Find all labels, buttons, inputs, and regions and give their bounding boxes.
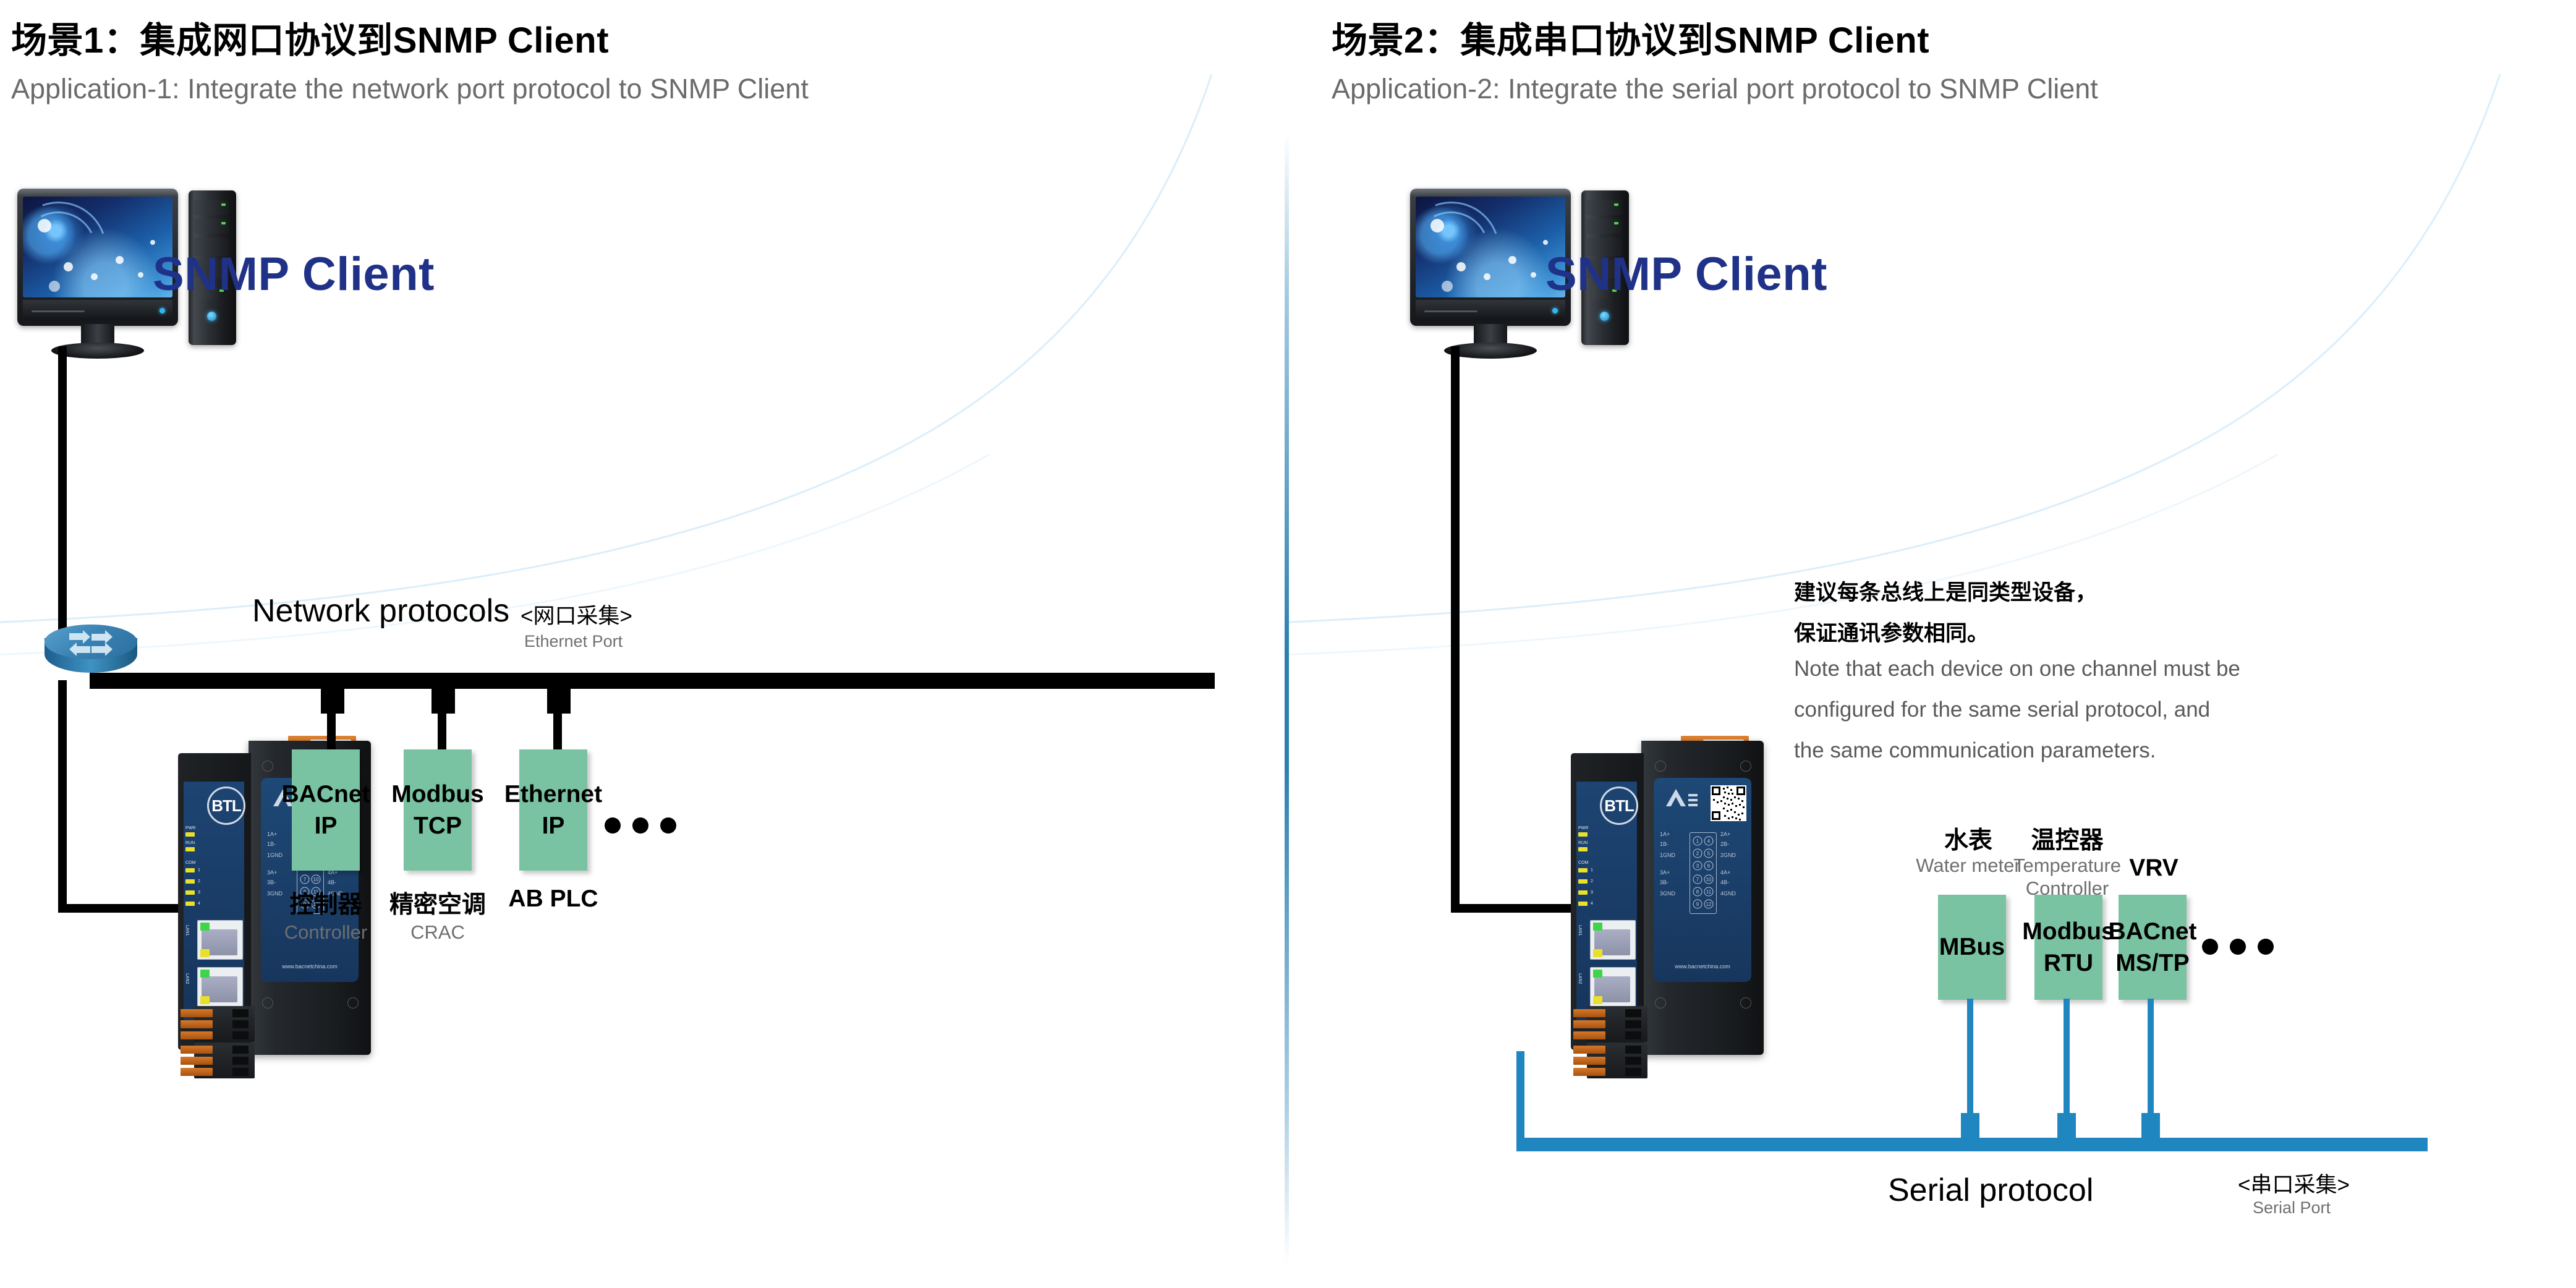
serial-bus-tap-3 — [2141, 1113, 2160, 1141]
protocol-line-2: IP — [542, 810, 565, 842]
svg-text:9: 9 — [1696, 902, 1699, 907]
drop-cable-1 — [327, 711, 336, 752]
led-com-3 — [185, 890, 195, 895]
btl-logo: BTL — [1600, 787, 1638, 825]
bus-tap-1 — [321, 685, 344, 714]
led-com-1 — [185, 868, 195, 872]
serial-drop-cable-2 — [2064, 999, 2070, 1122]
gateway-front-panel: BTL PWR RUN COM 1 2 3 4 LAN1 LAN2 — [184, 782, 244, 1021]
device-name-cn-3: VRV — [2095, 855, 2213, 882]
cable-monitor-to-gateway-horizontal — [1451, 904, 1575, 913]
svg-text:4: 4 — [1707, 838, 1711, 844]
svg-text:10: 10 — [1706, 877, 1712, 882]
port-label-en: Ethernet Port — [524, 632, 623, 651]
serial-drop-cable-1 — [1967, 999, 1973, 1122]
serial-terminal-block-2 — [194, 1043, 255, 1078]
protocol-box-bacnet-mstp: BACnet MS/TP — [2119, 895, 2187, 1000]
drop-cable-3 — [553, 711, 562, 752]
protocol-line-1: BACnet — [2109, 916, 2197, 947]
led-label-com: COM — [185, 861, 195, 865]
cable-monitor-to-router — [58, 346, 67, 637]
lan-port-2 — [197, 967, 243, 1007]
svg-text:1: 1 — [1696, 838, 1699, 844]
serial-bus-tap-1 — [1961, 1113, 1979, 1141]
panel-title-cn: 场景1：集成网口协议到SNMP Client — [11, 11, 609, 63]
port-label-cn: <网口采集> — [521, 599, 632, 630]
more-devices-ellipsis — [605, 817, 676, 834]
serial-terminal-block-1 — [1587, 1006, 1647, 1042]
protocol-box-modbus-tcp: Modbus TCP — [404, 749, 472, 871]
svg-text:7: 7 — [1696, 877, 1699, 882]
led-label-run: RUN — [185, 841, 195, 845]
led-com-4 — [1578, 902, 1588, 906]
serial-bus-riser — [1516, 1051, 1524, 1144]
panel-subtitle-en: Application-2: Integrate the serial port… — [1332, 73, 2098, 105]
gateway-body: 14 25 36 710 811 912 1A+ 1B- 1GND 3A+ 3B… — [1641, 741, 1764, 1055]
protocol-line-1: BACnet — [282, 778, 370, 810]
ethernet-bus-line — [90, 673, 1215, 689]
led-com-2 — [185, 879, 195, 884]
sunfull-logo-icon — [1662, 785, 1699, 811]
led-run — [185, 847, 195, 851]
pin-diagram: 14 25 36 710 811 912 — [1690, 832, 1717, 914]
port-label-cn: <串口采集> — [2238, 1167, 2350, 1199]
qr-code — [1711, 785, 1746, 821]
monitor-bezel — [23, 300, 172, 320]
note-en-line-3: the same communication parameters. — [1794, 738, 2156, 763]
port-label-en: Serial Port — [2253, 1198, 2331, 1218]
led-com-1 — [1578, 868, 1588, 872]
svg-text:11: 11 — [1706, 889, 1712, 895]
led-label-run: RUN — [1578, 841, 1588, 845]
protocol-line-2: TCP — [414, 810, 462, 842]
protocol-box-mbus: MBus — [1938, 895, 2006, 1000]
cable-router-to-gateway-vertical — [58, 680, 67, 912]
protocol-line-1: MBus — [1939, 931, 2005, 963]
cable-router-to-gateway-horizontal — [58, 904, 182, 913]
monitor-screen — [23, 197, 172, 297]
serial-drop-cable-3 — [2148, 999, 2154, 1122]
led-pwr — [185, 832, 195, 837]
svg-text:5: 5 — [1707, 851, 1711, 856]
protocol-line-2: MS/TP — [2115, 947, 2189, 979]
svg-text:10: 10 — [313, 877, 319, 882]
led-label-pwr: PWR — [185, 826, 195, 830]
protocol-line-1: Ethernet — [504, 778, 602, 810]
led-com-4 — [185, 902, 195, 906]
panel-subtitle-en: Application-1: Integrate the network por… — [11, 73, 809, 105]
more-devices-ellipsis — [2202, 939, 2274, 955]
svg-text:7: 7 — [304, 877, 307, 882]
protocol-line-1: Modbus — [2022, 916, 2114, 947]
led-pwr — [1578, 832, 1588, 837]
protocol-gateway-device: 14 25 36 710 811 912 1A+ 1B- 1GND 3A+ 3B… — [1571, 736, 1775, 1079]
gateway-website: www.bacnetchina.com — [1654, 963, 1751, 970]
note-en-line-1: Note that each device on one channel mus… — [1794, 657, 2240, 681]
note-en-line-2: configured for the same serial protocol,… — [1794, 697, 2210, 722]
serial-bus-tap-2 — [2057, 1113, 2076, 1141]
protocol-box-modbus-rtu: Modbus RTU — [2034, 895, 2102, 1000]
gateway-front-label: 14 25 36 710 811 912 1A+ 1B- 1GND 3A+ 3B… — [1654, 778, 1751, 982]
application-2-panel: 场景2：集成串口协议到SNMP Client Application-2: In… — [1288, 0, 2576, 1288]
pin-numbers: 14 25 36 710 811 912 — [1690, 833, 1716, 913]
protocol-line-1: Modbus — [391, 778, 483, 810]
gateway-front-panel: BTL PWR RUN COM 1 2 3 4 LAN1 LAN2 — [1576, 782, 1637, 1021]
serial-terminal-block-1 — [194, 1006, 255, 1042]
protocol-box-ethernet-ip: Ethernet IP — [519, 749, 587, 871]
bus-tap-3 — [547, 685, 571, 714]
lan-port-1 — [1590, 920, 1636, 960]
device-name-cn-2: 温控器 — [2002, 821, 2132, 856]
device-name-en-2: CRAC — [370, 921, 506, 944]
bus-title: Network protocols — [252, 592, 509, 629]
led-label-pwr: PWR — [1578, 826, 1588, 830]
monitor-bezel — [1416, 300, 1565, 320]
led-label-com: COM — [1578, 861, 1588, 865]
svg-text:12: 12 — [1706, 902, 1712, 907]
panel-title-cn: 场景2：集成串口协议到SNMP Client — [1332, 11, 1929, 63]
snmp-client-label: SNMP Client — [153, 247, 435, 301]
gateway-front-face: BTL PWR RUN COM 1 2 3 4 LAN1 LAN2 — [1571, 753, 1644, 1050]
protocol-line-2: RTU — [2044, 947, 2093, 979]
svg-text:2: 2 — [1696, 851, 1699, 856]
device-name-cn-3: AB PLC — [485, 885, 621, 913]
svg-text:8: 8 — [1696, 889, 1699, 895]
gateway-front-face: BTL PWR RUN COM 1 2 3 4 LAN1 LAN2 — [178, 753, 251, 1050]
led-com-2 — [1578, 879, 1588, 884]
bus-tap-2 — [431, 685, 455, 714]
note-cn-line-1: 建议每条总线上是同类型设备， — [1794, 575, 2097, 607]
lan-port-2 — [1590, 967, 1636, 1007]
router-arrows-icon — [45, 625, 137, 662]
qr-code-pattern — [1711, 785, 1746, 821]
serial-terminal-block-2 — [1587, 1043, 1647, 1078]
bus-title: Serial protocol — [1888, 1172, 2093, 1209]
protocol-box-bacnet-ip: BACnet IP — [292, 749, 360, 871]
led-com-3 — [1578, 890, 1588, 895]
monitor-screen — [1416, 197, 1565, 297]
drop-cable-2 — [438, 711, 446, 752]
led-run — [1578, 847, 1588, 851]
protocol-line-2: IP — [315, 810, 338, 842]
application-1-panel: 场景1：集成网口协议到SNMP Client Application-1: In… — [0, 0, 1288, 1288]
lan-port-1 — [197, 920, 243, 960]
svg-text:6: 6 — [1707, 863, 1711, 869]
cable-monitor-to-gateway-vertical — [1451, 346, 1460, 913]
snmp-client-label: SNMP Client — [1545, 247, 1827, 301]
note-cn-line-2: 保证通讯参数相同。 — [1794, 616, 1989, 647]
svg-text:3: 3 — [1696, 863, 1699, 869]
gateway-website: www.bacnetchina.com — [261, 963, 359, 970]
btl-logo: BTL — [207, 787, 245, 825]
